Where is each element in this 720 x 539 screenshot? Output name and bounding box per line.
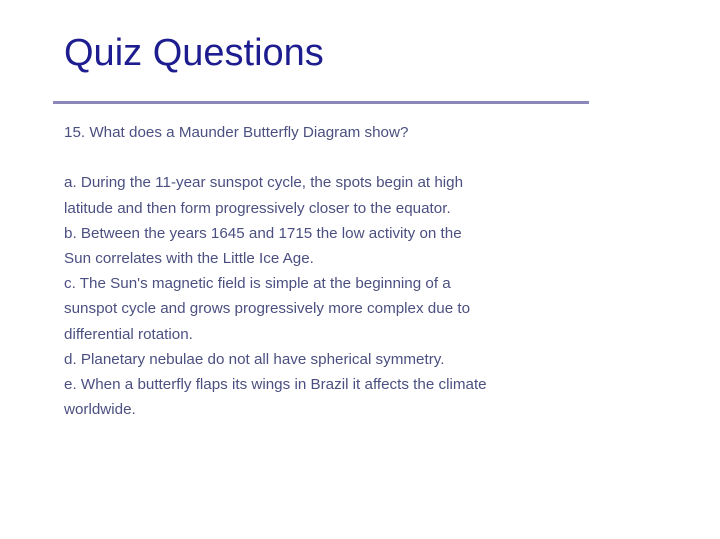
body-spacer: [64, 145, 664, 170]
answer-option-a[interactable]: a. During the 11-year sunspot cycle, the…: [64, 170, 664, 220]
answer-option-e-line-1: e. When a butterfly flaps its wings in B…: [64, 372, 664, 397]
question-text: 15. What does a Maunder Butterfly Diagra…: [64, 120, 664, 145]
answer-option-e-line-2: worldwide.: [64, 397, 664, 422]
answer-option-a-line-2: latitude and then form progressively clo…: [64, 196, 664, 221]
answer-option-e[interactable]: e. When a butterfly flaps its wings in B…: [64, 372, 664, 422]
answer-option-d-line-1: d. Planetary nebulae do not all have sph…: [64, 347, 664, 372]
page-title: Quiz Questions: [64, 30, 324, 76]
answer-option-c-line-2: sunspot cycle and grows progressively mo…: [64, 296, 664, 321]
answer-option-c-line-3: differential rotation.: [64, 322, 664, 347]
answer-option-a-line-1: a. During the 11-year sunspot cycle, the…: [64, 170, 664, 195]
answer-option-c[interactable]: c. The Sun's magnetic field is simple at…: [64, 271, 664, 347]
answer-option-b-line-2: Sun correlates with the Little Ice Age.: [64, 246, 664, 271]
answer-option-c-line-1: c. The Sun's magnetic field is simple at…: [64, 271, 664, 296]
slide-canvas: Quiz Questions 15. What does a Maunder B…: [0, 0, 720, 539]
answer-option-b-line-1: b. Between the years 1645 and 1715 the l…: [64, 221, 664, 246]
title-divider: [53, 101, 589, 104]
answer-option-b[interactable]: b. Between the years 1645 and 1715 the l…: [64, 221, 664, 271]
answer-option-d[interactable]: d. Planetary nebulae do not all have sph…: [64, 347, 664, 372]
quiz-body: 15. What does a Maunder Butterfly Diagra…: [64, 120, 664, 422]
